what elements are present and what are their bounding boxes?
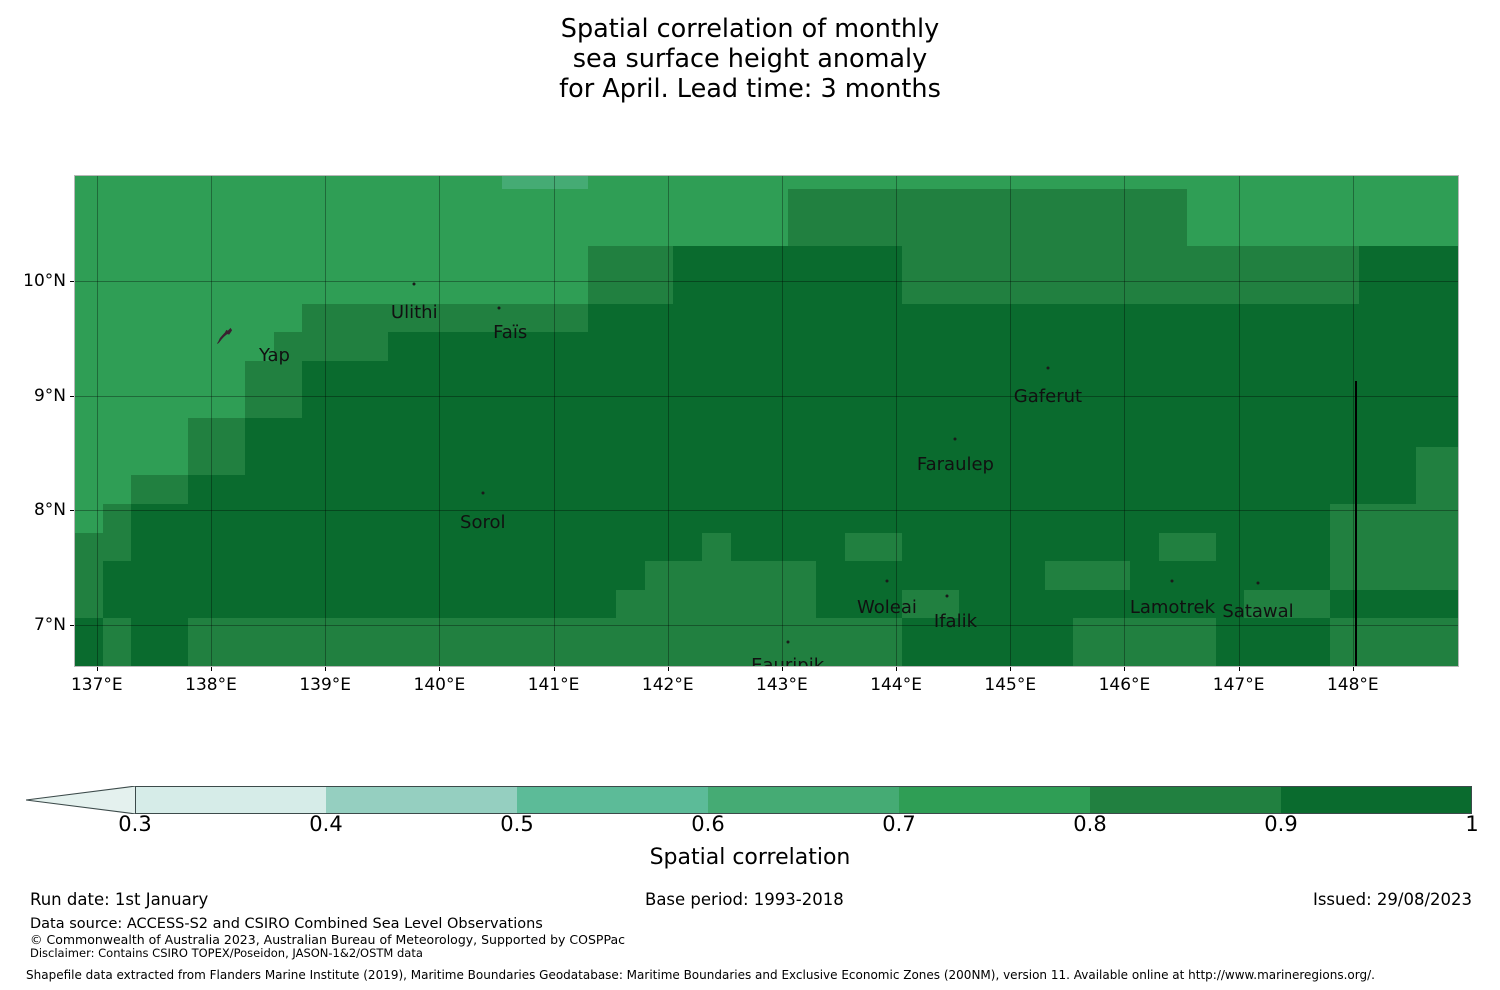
island-marker (786, 640, 789, 643)
island-label-satawal: Satawal (1222, 603, 1293, 621)
x-tick-label: 147°E (1213, 675, 1265, 695)
island-marker (497, 306, 500, 309)
y-tick-label: 10°N (23, 271, 66, 291)
page-title: Spatial correlation of monthly sea surfa… (0, 14, 1500, 104)
colorbar-min-extend-arrow (26, 786, 136, 814)
island-label-yap: Yap (259, 347, 290, 365)
island-marker (481, 492, 484, 495)
y-tick-mark (70, 510, 74, 511)
colorbar-tick-label: 0.9 (1264, 812, 1297, 836)
x-tick-label: 137°E (71, 675, 123, 695)
island-label-fas: Faïs (493, 324, 527, 342)
colorbar-segment (517, 786, 708, 814)
x-tick-label: 145°E (984, 675, 1036, 695)
island-label-sorol: Sorol (460, 514, 505, 532)
x-tick-mark (896, 667, 897, 671)
x-tick-mark (554, 667, 555, 671)
x-tick-label: 143°E (756, 675, 808, 695)
colorbar-segment (1281, 786, 1472, 814)
issued-date-text: Issued: 29/08/2023 (1313, 890, 1472, 909)
run-date-text: Run date: 1st January (30, 890, 208, 909)
colorbar-segment (899, 786, 1090, 814)
x-tick-label: 140°E (414, 675, 466, 695)
x-tick-mark (439, 667, 440, 671)
colorbar-tick-label: 0.7 (882, 812, 915, 836)
copyright-text: © Commonwealth of Australia 2023, Austra… (30, 932, 625, 947)
colorbar-tick-label: 0.3 (118, 812, 151, 836)
x-tick-mark (1010, 667, 1011, 671)
y-tick-label: 8°N (34, 500, 66, 520)
x-tick-label: 142°E (642, 675, 694, 695)
x-tick-mark (211, 667, 212, 671)
x-tick-label: 139°E (299, 675, 351, 695)
x-tick-label: 141°E (528, 675, 580, 695)
island-marker (1257, 582, 1260, 585)
data-source-text: Data source: ACCESS-S2 and CSIRO Combine… (30, 916, 543, 932)
island-marker (1171, 580, 1174, 583)
x-tick-mark (1353, 667, 1354, 671)
colorbar-segment (708, 786, 899, 814)
colorbar-gradient (135, 786, 1472, 814)
x-tick-label: 138°E (185, 675, 237, 695)
colorbar-tick-label: 0.8 (1073, 812, 1106, 836)
island-label-woleai: Woleai (857, 599, 917, 617)
colorbar-segment (326, 786, 517, 814)
y-tick-mark (70, 396, 74, 397)
island-marker (954, 438, 957, 441)
colorbar-title: Spatial correlation (0, 845, 1500, 870)
x-tick-label: 148°E (1327, 675, 1379, 695)
disclaimer-text: Disclaimer: Contains CSIRO TOPEX/Poseido… (30, 946, 423, 960)
island-marker (413, 282, 416, 285)
island-label-lamotrek: Lamotrek (1130, 599, 1215, 617)
island-marker (946, 595, 949, 598)
x-tick-mark (1239, 667, 1240, 671)
y-tick-mark (70, 625, 74, 626)
island-label-layer: YapUlithiFaïsSorolGaferutFaraulepWoleaiI… (74, 175, 1459, 667)
island-label-eauripik: Eauripik (751, 657, 824, 667)
colorbar-tick-label: 0.6 (691, 812, 724, 836)
island-label-faraulep: Faraulep (917, 456, 994, 474)
x-tick-label: 144°E (870, 675, 922, 695)
island-label-ulithi: Ulithi (391, 304, 438, 322)
x-tick-mark (97, 667, 98, 671)
colorbar-tick-label: 0.4 (309, 812, 342, 836)
colorbar-segment (135, 786, 326, 814)
island-marker (885, 580, 888, 583)
colorbar: 0.30.40.50.60.70.80.91 (0, 782, 1500, 822)
x-tick-mark (325, 667, 326, 671)
colorbar-tick-label: 1 (1465, 812, 1478, 836)
y-tick-label: 7°N (34, 615, 66, 635)
x-tick-mark (1124, 667, 1125, 671)
colorbar-segment (1090, 786, 1281, 814)
y-tick-mark (70, 281, 74, 282)
island-label-gaferut: Gaferut (1014, 388, 1082, 406)
map-plot-area: YapUlithiFaïsSorolGaferutFaraulepWoleaiI… (74, 175, 1459, 667)
island-label-ifalik: Ifalik (934, 613, 977, 631)
island-shape-yap (214, 325, 236, 347)
base-period-text: Base period: 1993-2018 (645, 890, 844, 909)
island-marker (1046, 367, 1049, 370)
x-tick-label: 146°E (1099, 675, 1151, 695)
x-tick-mark (668, 667, 669, 671)
colorbar-tick-label: 0.5 (500, 812, 533, 836)
shapefile-attribution-text: Shapefile data extracted from Flanders M… (26, 968, 1375, 982)
x-tick-mark (782, 667, 783, 671)
y-tick-label: 9°N (34, 386, 66, 406)
